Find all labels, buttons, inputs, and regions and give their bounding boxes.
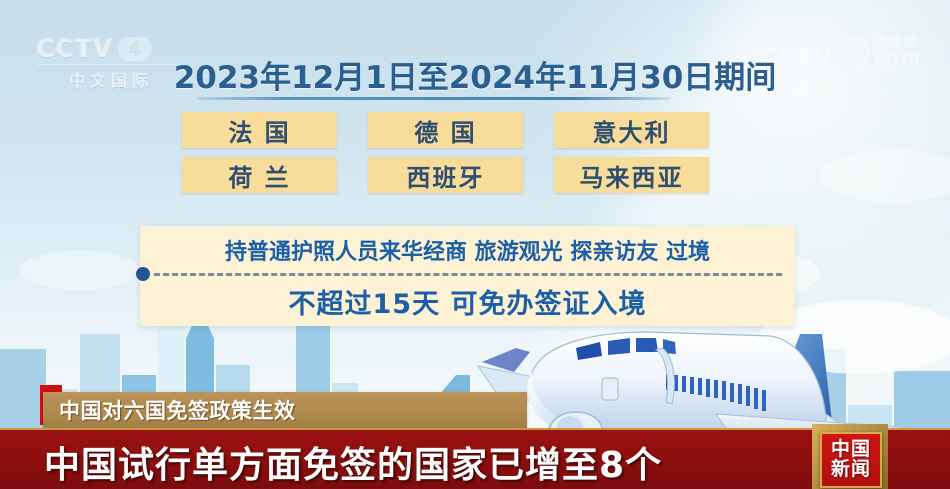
country-badge-grid: 法 国 德 国 意大利 荷 兰 西班牙 马来西亚	[182, 112, 710, 202]
info-panel-bullet-dot	[136, 267, 150, 281]
headline-text: 中国试行单方面免签的国家已增至8个	[44, 436, 662, 488]
graphic-title: 2023年12月1日至2024年11月30日期间	[0, 52, 950, 97]
info-panel-line-1: 持普通护照人员来华经商 旅游观光 探亲访友 过境	[140, 234, 795, 266]
country-badge-row: 荷 兰 西班牙 马来西亚	[182, 157, 710, 193]
country-badge: 意大利	[554, 112, 709, 148]
info-panel-line-2: 不超过15天 可免办签证入境	[140, 282, 795, 321]
country-badge: 西班牙	[368, 157, 523, 193]
broadcast-screenshot: CCTV 4 中文国际 CCTV 央视网 com 2023年12月1日至2024…	[0, 0, 950, 489]
country-badge: 法 国	[182, 112, 337, 148]
country-badge: 德 国	[368, 112, 523, 148]
visa-info-panel: 持普通护照人员来华经商 旅游观光 探亲访友 过境 不超过15天 可免办签证入境	[140, 226, 795, 326]
program-logo-line-1: 中国	[831, 440, 871, 460]
country-badge-row: 法 国 德 国 意大利	[182, 112, 710, 148]
subheadline-bar: 中国对六国免签政策生效	[43, 392, 527, 428]
info-panel-divider	[154, 273, 782, 276]
program-logo-line-2: 新闻	[831, 460, 871, 480]
country-badge: 马来西亚	[554, 157, 709, 193]
program-logo: 中国 新闻	[820, 432, 882, 488]
country-badge: 荷 兰	[182, 157, 337, 193]
subheadline-text: 中国对六国免签政策生效	[59, 395, 296, 425]
title-underline-rule	[198, 97, 670, 100]
